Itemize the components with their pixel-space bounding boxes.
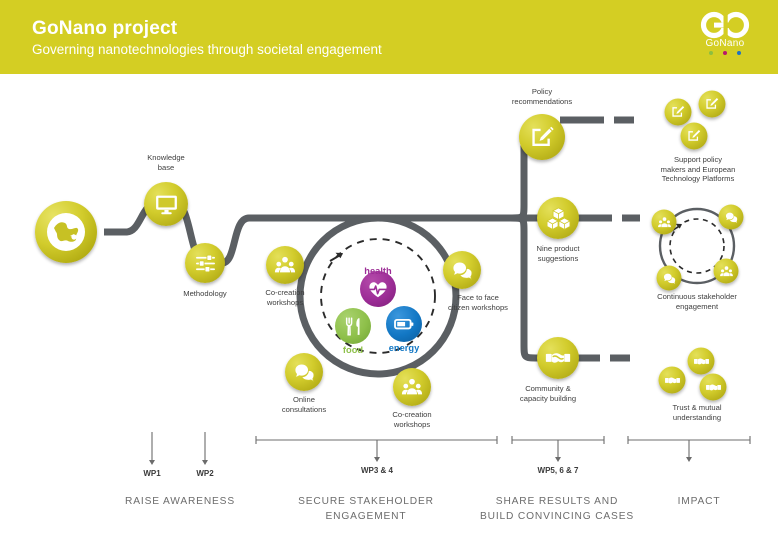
node-cocreation-workshops-top-label: Co-creation workshops (237, 288, 333, 307)
boxes-icon (546, 206, 571, 231)
gonano-logo: GoNano (694, 10, 756, 66)
people-group-icon (657, 215, 671, 229)
node-policy-recommendations-label: Policy recommendations (494, 87, 590, 106)
gonano-infinity-icon (700, 10, 750, 40)
axis-arrow-wp567 (555, 457, 561, 462)
axis-label-wp34: WP3 & 4 (332, 466, 422, 475)
handshake-icon (705, 379, 721, 395)
axis-label-wp2: WP2 (160, 469, 250, 478)
speech-bubbles-icon (724, 210, 738, 224)
people-group-icon (274, 254, 296, 276)
node-support-policy-makers-label: Support policy makers and European Techn… (638, 155, 758, 184)
pencil-document-icon (705, 97, 720, 112)
node-trust-mutual-1[interactable] (688, 348, 715, 375)
node-support-policy-2[interactable] (699, 91, 726, 118)
logo-dot-magenta (723, 51, 727, 55)
wire-branch-down (510, 218, 538, 358)
pencil-document-icon (671, 105, 686, 120)
people-group-icon (401, 376, 423, 398)
node-continuous-engagement-1[interactable] (652, 210, 677, 235)
pillar-health[interactable] (360, 271, 396, 307)
globe-icon (46, 212, 86, 252)
node-policy-recommendations[interactable] (519, 114, 565, 160)
battery-icon (393, 313, 415, 335)
axis-arrow-wp1 (149, 460, 155, 465)
node-continuous-engagement-2[interactable] (719, 205, 744, 230)
speech-bubbles-icon (451, 259, 474, 282)
node-online-consultations[interactable] (285, 353, 323, 391)
node-knowledge-base[interactable] (144, 182, 188, 226)
page-subtitle: Governing nanotechnologies through socie… (32, 42, 382, 57)
heart-pulse-icon (367, 278, 389, 300)
node-trust-mutual-2[interactable] (659, 367, 686, 394)
wire-branch-up (510, 144, 524, 218)
node-support-policy-1[interactable] (665, 99, 692, 126)
node-cocreation-workshops-top[interactable] (266, 246, 304, 284)
node-online-consultations-label: Online consultations (256, 395, 352, 414)
axis-arrow-impact (686, 457, 692, 462)
node-community-capacity-building-label: Community & capacity building (500, 384, 596, 403)
speech-bubbles-icon (662, 271, 676, 285)
page-header: GoNano project Governing nanotechnologie… (0, 0, 778, 74)
pillar-energy[interactable] (386, 306, 422, 342)
diagram-canvas: Knowledge base Methodology (0, 74, 778, 550)
node-globe[interactable] (35, 201, 97, 263)
sliders-icon (194, 252, 217, 275)
logo-dot-green (709, 51, 713, 55)
page-title: GoNano project (32, 18, 177, 40)
pillar-health-label: health (343, 266, 413, 276)
logo-wordmark: GoNano (694, 38, 756, 49)
node-nine-product-suggestions[interactable] (537, 197, 579, 239)
node-continuous-engagement-label: Continuous stakeholder engagement (632, 292, 762, 311)
logo-dots (694, 51, 756, 55)
axis-arrow-wp34 (374, 457, 380, 462)
node-face-to-face-label: Face to face citizen workshops (430, 293, 526, 312)
node-continuous-engagement-3[interactable] (657, 266, 682, 291)
node-cocreation-workshops-bottom-label: Co-creation workshops (364, 410, 460, 429)
monitor-icon (154, 192, 179, 217)
fork-knife-icon (343, 316, 364, 337)
node-support-policy-3[interactable] (681, 123, 708, 150)
node-knowledge-base-label: Knowledge base (118, 153, 214, 172)
handshake-icon (664, 372, 680, 388)
node-methodology[interactable] (185, 243, 225, 283)
speech-bubbles-icon (293, 361, 316, 384)
handshake-icon (545, 345, 571, 371)
logo-dot-blue (737, 51, 741, 55)
gonano-project-infographic: GoNano project Governing nanotechnologie… (0, 0, 778, 550)
pillar-energy-label: energy (369, 343, 439, 353)
node-face-to-face-citizen-workshops[interactable] (443, 251, 481, 289)
node-trust-mutual-label: Trust & mutual understanding (637, 403, 757, 422)
phase-label-impact: IMPACT (584, 495, 778, 510)
axis-arrow-wp2 (202, 460, 208, 465)
axis-label-wp567: WP5, 6 & 7 (513, 466, 603, 475)
node-trust-mutual-3[interactable] (700, 374, 727, 401)
pencil-document-icon (687, 129, 702, 144)
people-group-icon (719, 264, 733, 278)
pencil-document-icon (529, 124, 556, 151)
node-community-capacity-building[interactable] (537, 337, 579, 379)
node-nine-product-suggestions-label: Nine product suggestions (510, 244, 606, 263)
handshake-icon (693, 353, 709, 369)
node-continuous-engagement-4[interactable] (714, 259, 739, 284)
node-cocreation-workshops-bottom[interactable] (393, 368, 431, 406)
pillar-food[interactable] (335, 308, 371, 344)
